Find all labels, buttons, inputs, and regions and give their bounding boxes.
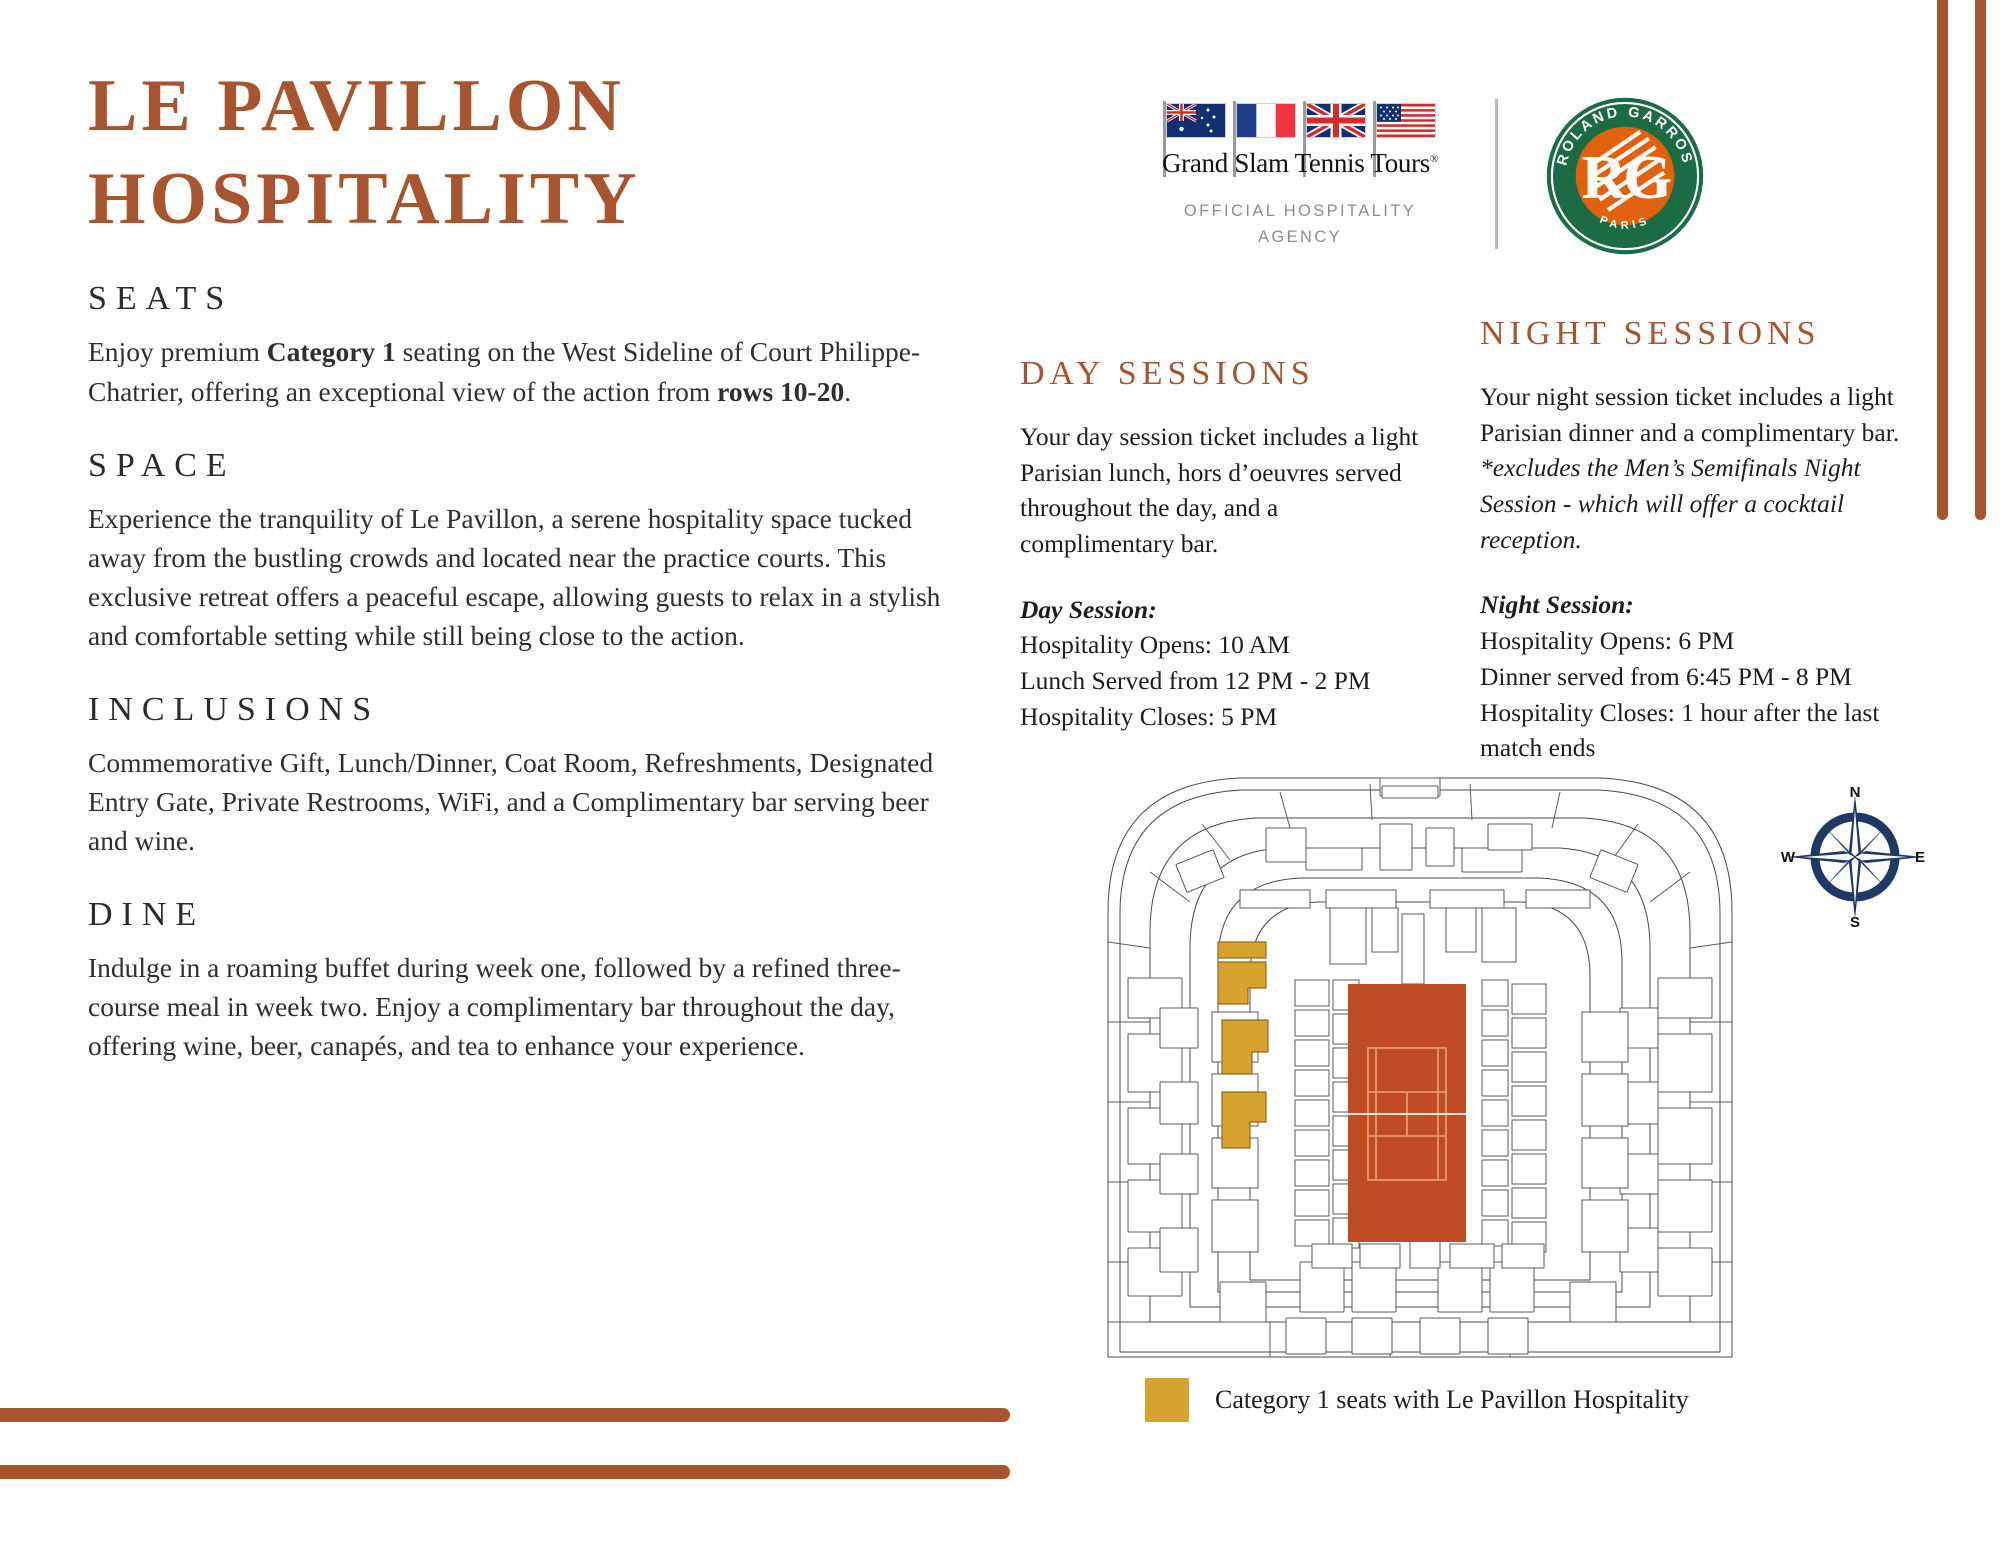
night-session-schedule-line: Dinner served from 6:45 PM - 8 PM — [1480, 659, 1900, 695]
section-body-space: Experience the tranquility of Le Pavillo… — [88, 499, 948, 655]
section-body-seats: Enjoy premium Category 1 seating on the … — [88, 332, 948, 410]
legend-swatch-category-1 — [1145, 1378, 1189, 1422]
day-sessions-body: Your day session ticket includes a light… — [1020, 419, 1420, 562]
decorative-vertical-bar-left — [1937, 0, 1948, 520]
decorative-horizontal-bar-bottom — [0, 1465, 1010, 1479]
section-body-inclusions: Commemorative Gift, Lunch/Dinner, Coat R… — [88, 743, 948, 860]
day-session-schedule: Day Session: Hospitality Opens: 10 AM Lu… — [1020, 592, 1420, 735]
page-title: LE PAVILLON HOSPITALITY — [88, 60, 958, 246]
roland-garros-logo: RG ROLAND GARROS PARIS — [1540, 91, 1710, 261]
night-session-schedule: Night Session: Hospitality Opens: 6 PM D… — [1480, 587, 1900, 765]
flag-row — [1150, 103, 1450, 147]
brochure-page: LE PAVILLON HOSPITALITY SEATS Enjoy prem… — [0, 0, 2000, 1545]
gstt-subtitle: Official Hospitality Agency — [1150, 199, 1450, 250]
clay-court — [1348, 984, 1466, 1242]
day-sessions-heading: DAY SESSIONS — [1020, 355, 1420, 393]
section-space: SPACE Experience the tranquility of Le P… — [88, 447, 958, 655]
decorative-vertical-bar-right — [1975, 0, 1986, 520]
gstt-subtitle-line-1: Official Hospitality — [1150, 199, 1450, 225]
section-seats: SEATS Enjoy premium Category 1 seating o… — [88, 280, 958, 410]
section-heading-seats: SEATS — [88, 280, 958, 318]
united-states-flag-icon — [1373, 103, 1437, 147]
gstt-subtitle-line-2: Agency — [1150, 225, 1450, 251]
day-session-schedule-line: Lunch Served from 12 PM - 2 PM — [1020, 663, 1420, 699]
svg-text:RG: RG — [1581, 142, 1671, 212]
logo-divider — [1495, 99, 1498, 249]
section-body-dine: Indulge in a roaming buffet during week … — [88, 948, 948, 1065]
decorative-horizontal-bar-top — [0, 1408, 1010, 1422]
united-kingdom-flag-icon — [1303, 103, 1367, 147]
page-title-line-2: HOSPITALITY — [88, 153, 958, 246]
day-sessions-column: DAY SESSIONS Your day session ticket inc… — [1020, 355, 1420, 735]
section-heading-space: SPACE — [88, 447, 958, 485]
night-session-schedule-line: Hospitality Closes: 1 hour after the las… — [1480, 695, 1900, 766]
trademark-symbol: ® — [1430, 153, 1438, 165]
night-sessions-column: NIGHT SESSIONS Your night session ticket… — [1480, 315, 1900, 766]
page-title-line-1: LE PAVILLON — [88, 60, 958, 153]
compass-rose-icon: N E S W — [1780, 785, 1930, 930]
grand-slam-tennis-tours-logo: Grand Slam Tennis Tours® Official Hospit… — [1150, 103, 1450, 250]
gstt-wordmark-text: Grand Slam Tennis Tours — [1162, 148, 1430, 178]
logo-lockup: Grand Slam Tennis Tours® Official Hospit… — [1140, 95, 1760, 270]
france-flag-icon — [1233, 103, 1297, 147]
section-heading-inclusions: INCLUSIONS — [88, 691, 958, 729]
left-content-column: LE PAVILLON HOSPITALITY SEATS Enjoy prem… — [88, 60, 958, 1101]
section-inclusions: INCLUSIONS Commemorative Gift, Lunch/Din… — [88, 691, 958, 860]
night-session-schedule-label: Night Session: — [1480, 587, 1900, 623]
compass-label-west: W — [1781, 849, 1796, 866]
night-sessions-heading: NIGHT SESSIONS — [1480, 315, 1900, 353]
day-session-schedule-label: Day Session: — [1020, 592, 1420, 628]
australia-flag-icon — [1163, 103, 1227, 147]
compass-label-north: N — [1850, 785, 1861, 801]
compass-label-east: E — [1915, 849, 1925, 866]
stadium-seating-map[interactable] — [1090, 762, 1750, 1372]
legend-label: Category 1 seats with Le Pavillon Hospit… — [1215, 1385, 1689, 1415]
night-session-schedule-line: Hospitality Opens: 6 PM — [1480, 623, 1900, 659]
map-legend: Category 1 seats with Le Pavillon Hospit… — [1145, 1378, 1689, 1422]
gstt-wordmark: Grand Slam Tennis Tours® — [1150, 149, 1450, 177]
highlighted-seat-block — [1218, 942, 1268, 1148]
night-sessions-body-note: *excludes the Men’s Semifinals Night Ses… — [1480, 453, 1861, 553]
day-session-schedule-line: Hospitality Closes: 5 PM — [1020, 699, 1420, 735]
night-sessions-body: Your night session ticket includes a lig… — [1480, 379, 1900, 557]
section-dine: DINE Indulge in a roaming buffet during … — [88, 896, 958, 1065]
section-heading-dine: DINE — [88, 896, 958, 934]
day-session-schedule-line: Hospitality Opens: 10 AM — [1020, 627, 1420, 663]
night-sessions-body-plain: Your night session ticket includes a lig… — [1480, 382, 1899, 447]
compass-label-south: S — [1850, 914, 1860, 930]
